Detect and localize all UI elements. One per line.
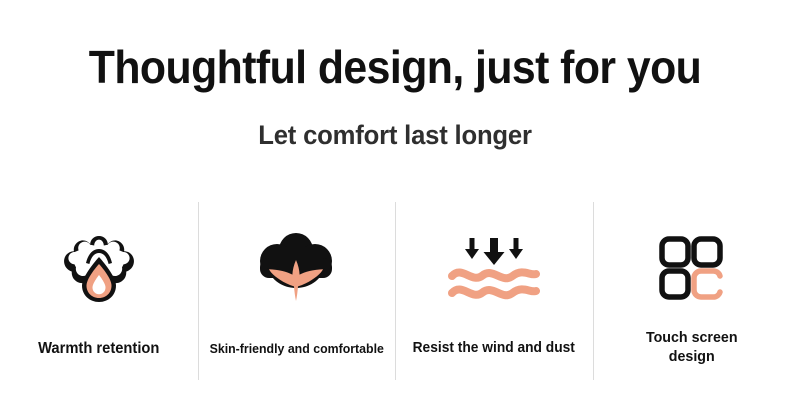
feature-label: Warmth retention: [5, 339, 193, 358]
page-subtitle: Let comfort last longer: [20, 118, 771, 152]
feature-label: Skin-friendly and comfortable: [202, 339, 390, 358]
feature-list: Warmth retention: [0, 196, 790, 386]
feature-item-skin-friendly: Skin-friendly and comfortable: [198, 196, 396, 386]
cotton-boll-icon: [247, 222, 345, 314]
cotton-cloud-flame-icon: [54, 222, 144, 314]
feature-item-wind-dust: Resist the wind and dust: [395, 196, 593, 386]
feature-label: Touch screen design: [597, 328, 785, 366]
touch-screen-grid-icon: [656, 222, 726, 314]
page-title: Thoughtful design, just for you: [28, 40, 763, 94]
wind-dust-waves-icon: [444, 222, 544, 314]
feature-item-warmth-retention: Warmth retention: [0, 196, 198, 386]
feature-item-touch-screen: Touch screen design: [593, 196, 790, 386]
feature-label: Resist the wind and dust: [400, 339, 588, 358]
promo-banner: Thoughtful design, just for you Let comf…: [0, 0, 790, 416]
